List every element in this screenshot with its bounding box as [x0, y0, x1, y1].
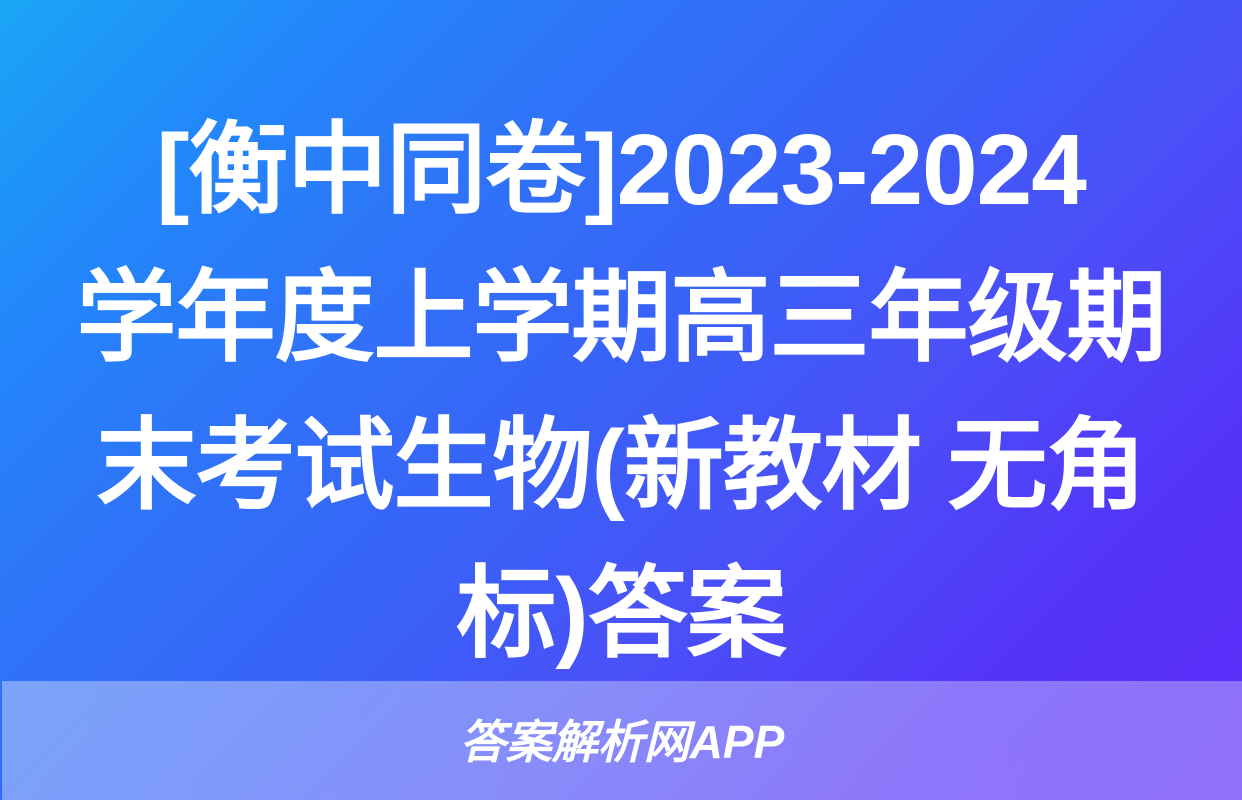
title-line-2: 学年度上学期高三年级期	[14, 244, 1228, 392]
footer-banner: 答案解析网APP	[2, 681, 1242, 800]
title-line-3: 末考试生物(新教材 无角	[14, 392, 1228, 540]
page-title: [衡中同卷]2023-2024 学年度上学期高三年级期 末考试生物(新教材 无角…	[0, 96, 1242, 688]
title-line-4: 标)答案	[14, 540, 1228, 688]
title-line-1: [衡中同卷]2023-2024	[14, 96, 1228, 244]
app-brand-label: 答案解析网APP	[460, 719, 785, 765]
poster-canvas: [衡中同卷]2023-2024 学年度上学期高三年级期 末考试生物(新教材 无角…	[0, 0, 1242, 800]
